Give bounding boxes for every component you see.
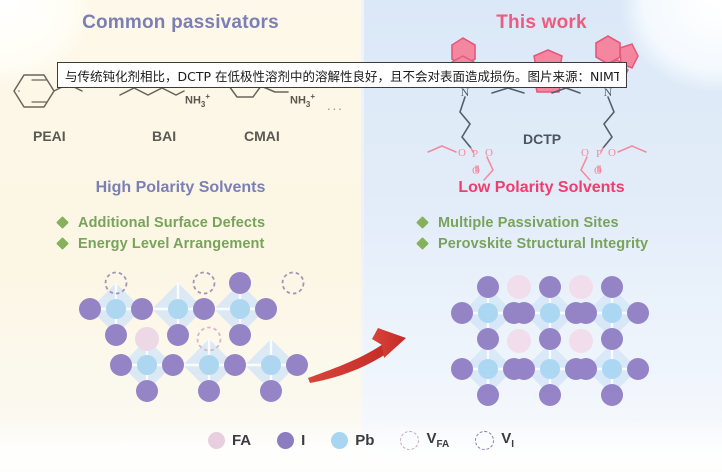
atom-label-p-right: P [596,148,602,160]
fa-site [507,275,531,299]
diamond-bullet-icon [416,237,429,250]
list-item: Additional Surface Defects [58,212,265,233]
fa-site [569,275,593,299]
iodide-vacancy-swatch-icon [475,431,494,450]
fa-site [569,329,593,353]
legend-item-vacancy-i: VI [475,430,514,450]
lattice-right [451,275,649,406]
list-item: Perovskite Structural Integrity [418,233,648,254]
bullet-label: Energy Level Arrangement [78,236,264,252]
vacancy-i [194,273,215,294]
atom-label-p-left: P [472,148,478,160]
molecule-label-cmai: CMAI [244,128,280,144]
bullet-label: Multiple Passivation Sites [438,215,619,231]
legend-item-fa: FA [208,432,251,449]
right-solvent-label: Low Polarity Solvents [361,179,722,197]
lead-swatch-icon [331,432,348,449]
molecule-series-ellipsis: ... [327,98,344,113]
legend-label: Pb [355,432,374,449]
molecule-label-dctp: DCTP [523,131,561,147]
vacancy-i [283,273,304,294]
functional-group-nh3-cmai: NH3+ [290,92,315,109]
left-solvent-label: High Polarity Solvents [0,179,361,197]
lattice-left [79,272,308,402]
caption-tooltip: 与传统钝化剂相比，DCTP 在低极性溶剂中的溶解性良好，且不会对表面造成损伤。图… [57,62,627,88]
list-item: Energy Level Arrangement [58,233,265,254]
fa-swatch-icon [208,432,225,449]
diamond-bullet-icon [56,237,69,250]
atom-label-o-right-1: O [608,147,616,159]
diamond-bullet-icon [416,216,429,229]
legend-label: I [301,432,305,449]
list-item: Multiple Passivation Sites [418,212,648,233]
bullet-label: Perovskite Structural Integrity [438,236,648,252]
atom-label-o-left-3: O [472,165,480,177]
right-panel-bullet-list: Multiple Passivation Sites Perovskite St… [418,212,648,254]
left-panel-title: Common passivators [0,12,361,34]
lattice-legend: FA I Pb VFA VI [0,430,722,450]
atom-label-o-right-3: O [594,165,602,177]
atom-label-o-left-1: O [458,147,466,159]
fa-vacancy-swatch-icon [400,431,419,450]
legend-item-i: I [277,432,305,449]
legend-item-pb: Pb [331,432,374,449]
legend-label: FA [232,432,251,449]
iodide-swatch-icon [277,432,294,449]
atom-label-o-left-2: O [485,147,493,159]
functional-group-nh3-bai: NH3+ [185,92,210,109]
bullet-label: Additional Surface Defects [78,215,265,231]
right-panel-title: This work [361,12,722,34]
molecule-label-bai: BAI [152,128,176,144]
diamond-bullet-icon [56,216,69,229]
molecule-label-peai: PEAI [33,128,66,144]
legend-label: VFA [426,430,449,450]
left-panel-bullet-list: Additional Surface Defects Energy Level … [58,212,265,254]
scientific-figure: N N O P O O O P O O [0,0,722,472]
atom-label-o-right-2: O [581,147,589,159]
molecule-bai [120,88,184,95]
fa-site [135,327,159,351]
fa-site [507,329,531,353]
legend-label: VI [501,430,514,450]
caption-tooltip-text: 与传统钝化剂相比，DCTP 在低极性溶剂中的溶解性良好，且不会对表面造成损伤。图… [65,66,619,85]
legend-item-vacancy-fa: VFA [400,430,449,450]
curved-red-arrow-icon [308,328,406,383]
